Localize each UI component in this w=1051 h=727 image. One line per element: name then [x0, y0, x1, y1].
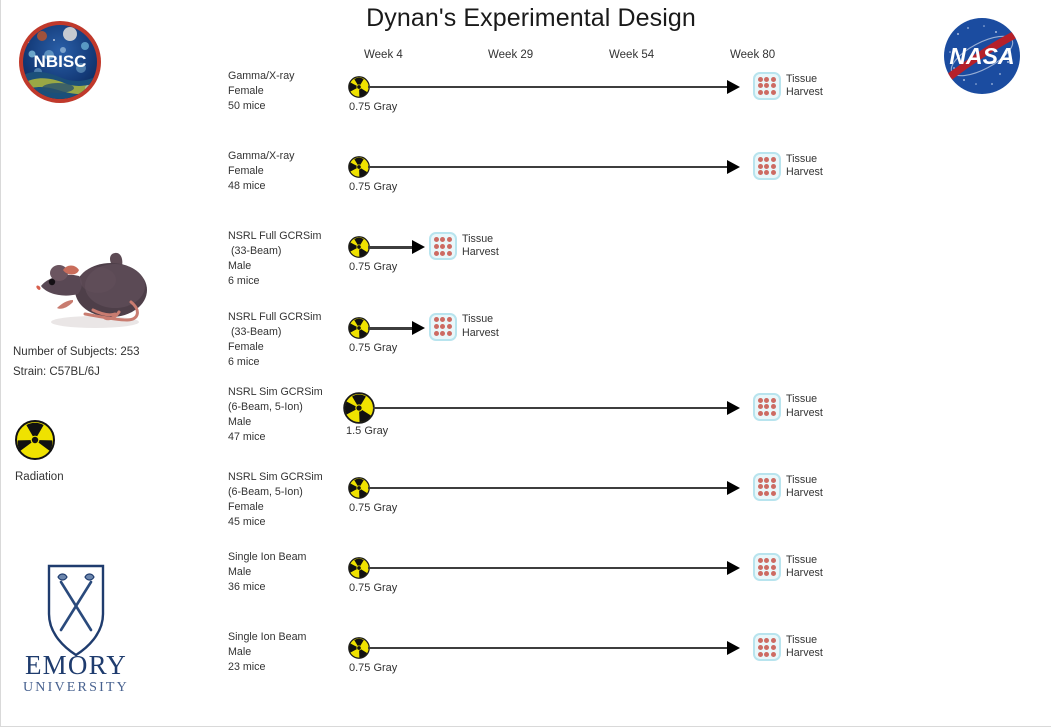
plate-well	[758, 90, 763, 95]
study-timeline-arrow	[368, 567, 728, 569]
study-timeline-arrow	[368, 327, 413, 330]
tissue-harvest-endpoint: TissueHarvest	[753, 553, 823, 581]
tissue-harvest-endpoint: TissueHarvest	[429, 232, 499, 260]
plate-well	[764, 404, 769, 409]
experiment-row: NSRL Full GCRSim (33-Beam)Female6 mice0.…	[1, 309, 1051, 389]
dose-label: 0.75 Gray	[349, 502, 397, 514]
plate-well	[771, 157, 776, 162]
tissue-harvest-label-line1: Tissue	[786, 554, 823, 568]
group-description-line: Single Ion Beam	[228, 550, 346, 565]
plate-well	[771, 652, 776, 657]
dose-label: 0.75 Gray	[349, 261, 397, 273]
irradiation-event-icon	[343, 392, 375, 424]
irradiation-event-icon	[348, 477, 370, 499]
page-title: Dynan's Experimental Design	[301, 4, 761, 33]
plate-well	[771, 638, 776, 643]
group-description-line: Male	[228, 415, 346, 430]
group-description-line: 50 mice	[228, 99, 346, 114]
week-label-week-80: Week 80	[730, 49, 775, 61]
plate-well	[447, 331, 452, 336]
tissue-harvest-endpoint: TissueHarvest	[753, 633, 823, 661]
plate-well	[440, 251, 445, 256]
week-label-week-4: Week 4	[364, 49, 403, 61]
radiation-icon	[348, 156, 370, 178]
study-timeline-arrow	[368, 166, 728, 168]
group-description: Gamma/X-rayFemale50 mice	[228, 69, 346, 114]
plate-well	[764, 411, 769, 416]
tissue-harvest-endpoint: TissueHarvest	[753, 393, 823, 421]
experiment-row: NSRL Sim GCRSim(6-Beam, 5-Ion)Female45 m…	[1, 469, 1051, 549]
plate-well	[440, 237, 445, 242]
radiation-icon	[343, 392, 375, 424]
slide-canvas: Dynan's Experimental Design	[0, 0, 1051, 727]
tissue-harvest-label-line1: Tissue	[462, 313, 499, 327]
group-description: NSRL Full GCRSim (33-Beam)Male6 mice	[228, 229, 346, 289]
plate-well	[758, 164, 763, 169]
week-label-week-54: Week 54	[609, 49, 654, 61]
radiation-icon	[348, 637, 370, 659]
dose-label: 0.75 Gray	[349, 181, 397, 193]
plate-well	[434, 244, 439, 249]
irradiation-event-icon	[348, 76, 370, 98]
plate-well	[447, 317, 452, 322]
well-plate-icon	[753, 553, 781, 581]
plate-well	[771, 83, 776, 88]
experiment-row: Single Ion BeamMale23 mice0.75 GrayTissu…	[1, 629, 1051, 709]
plate-well	[440, 324, 445, 329]
tissue-harvest-label-line2: Harvest	[462, 327, 499, 341]
plate-well	[447, 237, 452, 242]
group-description-line: NSRL Sim GCRSim	[228, 470, 346, 485]
well-plate-icon	[753, 393, 781, 421]
dose-label: 1.5 Gray	[346, 425, 388, 437]
plate-well	[764, 164, 769, 169]
arrowhead-icon	[727, 561, 740, 575]
tissue-harvest-label-line1: Tissue	[786, 153, 823, 167]
plate-well	[447, 244, 452, 249]
plate-well	[764, 652, 769, 657]
experiment-row: Gamma/X-rayFemale48 mice0.75 GrayTissueH…	[1, 148, 1051, 228]
group-description: NSRL Full GCRSim (33-Beam)Female6 mice	[228, 310, 346, 370]
group-description-line: Female	[228, 164, 346, 179]
plate-well	[447, 324, 452, 329]
group-description-line: Gamma/X-ray	[228, 69, 346, 84]
group-description-line: Gamma/X-ray	[228, 149, 346, 164]
tissue-harvest-label-line1: Tissue	[462, 233, 499, 247]
irradiation-event-icon	[348, 637, 370, 659]
tissue-harvest-endpoint: TissueHarvest	[429, 313, 499, 341]
study-timeline-arrow	[368, 647, 728, 649]
tissue-harvest-label-line1: Tissue	[786, 634, 823, 648]
group-description-line: (33-Beam)	[228, 244, 346, 259]
group-description-line: Male	[228, 565, 346, 580]
well-plate-icon	[753, 473, 781, 501]
experiment-row: NSRL Full GCRSim (33-Beam)Male6 mice0.75…	[1, 228, 1051, 308]
plate-well	[771, 404, 776, 409]
plate-well	[771, 491, 776, 496]
plate-well	[434, 237, 439, 242]
group-description: Single Ion BeamMale23 mice	[228, 630, 346, 675]
tissue-harvest-label-line2: Harvest	[786, 166, 823, 180]
plate-well	[764, 398, 769, 403]
study-timeline-arrow	[368, 487, 728, 489]
group-description-line: NSRL Full GCRSim	[228, 310, 346, 325]
group-description-line: Male	[228, 645, 346, 660]
group-description: NSRL Sim GCRSim(6-Beam, 5-Ion)Male47 mic…	[228, 385, 346, 445]
tissue-harvest-label: TissueHarvest	[786, 73, 823, 100]
tissue-harvest-endpoint: TissueHarvest	[753, 152, 823, 180]
irradiation-event-icon	[348, 317, 370, 339]
tissue-harvest-label: TissueHarvest	[786, 153, 823, 180]
arrowhead-icon	[727, 641, 740, 655]
plate-well	[764, 491, 769, 496]
group-description-line: 36 mice	[228, 580, 346, 595]
tissue-harvest-endpoint: TissueHarvest	[753, 473, 823, 501]
plate-well	[758, 484, 763, 489]
tissue-harvest-label-line1: Tissue	[786, 73, 823, 87]
group-description-line: 23 mice	[228, 660, 346, 675]
group-description-line: 6 mice	[228, 355, 346, 370]
radiation-icon	[348, 76, 370, 98]
plate-well	[771, 645, 776, 650]
tissue-harvest-label-line2: Harvest	[786, 86, 823, 100]
plate-well	[447, 251, 452, 256]
plate-well	[758, 170, 763, 175]
well-plate-icon	[753, 72, 781, 100]
arrowhead-icon	[727, 401, 740, 415]
experiment-row: Gamma/X-rayFemale50 mice0.75 GrayTissueH…	[1, 68, 1051, 148]
plate-well	[764, 478, 769, 483]
plate-well	[771, 77, 776, 82]
nasa-logo-text: NASA	[949, 43, 1014, 69]
tissue-harvest-label: TissueHarvest	[462, 233, 499, 260]
tissue-harvest-label-line2: Harvest	[786, 487, 823, 501]
plate-well	[758, 77, 763, 82]
group-description-line: Female	[228, 340, 346, 355]
week-label-week-29: Week 29	[488, 49, 533, 61]
dose-label: 0.75 Gray	[349, 101, 397, 113]
group-description: NSRL Sim GCRSim(6-Beam, 5-Ion)Female45 m…	[228, 470, 346, 530]
plate-well	[434, 251, 439, 256]
plate-well	[764, 77, 769, 82]
plate-well	[771, 398, 776, 403]
plate-well	[758, 491, 763, 496]
tissue-harvest-label: TissueHarvest	[786, 393, 823, 420]
group-description-line: (33-Beam)	[228, 325, 346, 340]
plate-well	[758, 645, 763, 650]
group-description-line: NSRL Full GCRSim	[228, 229, 346, 244]
group-description-line: NSRL Sim GCRSim	[228, 385, 346, 400]
group-description-line: Female	[228, 500, 346, 515]
irradiation-event-icon	[348, 156, 370, 178]
plate-well	[758, 398, 763, 403]
radiation-icon	[348, 236, 370, 258]
plate-well	[771, 170, 776, 175]
arrowhead-icon	[727, 160, 740, 174]
plate-well	[764, 484, 769, 489]
tissue-harvest-label-line2: Harvest	[786, 567, 823, 581]
arrowhead-icon	[412, 240, 425, 254]
plate-well	[758, 571, 763, 576]
plate-well	[758, 478, 763, 483]
group-description-line: Male	[228, 259, 346, 274]
plate-well	[434, 324, 439, 329]
group-description: Gamma/X-rayFemale48 mice	[228, 149, 346, 194]
plate-well	[764, 571, 769, 576]
plate-well	[771, 565, 776, 570]
plate-well	[758, 411, 763, 416]
plate-well	[758, 404, 763, 409]
study-timeline-arrow	[373, 407, 728, 409]
group-description-line: (6-Beam, 5-Ion)	[228, 400, 346, 415]
study-timeline-arrow	[368, 246, 413, 249]
group-description-line: 6 mice	[228, 274, 346, 289]
plate-well	[771, 558, 776, 563]
arrowhead-icon	[727, 80, 740, 94]
tissue-harvest-label: TissueHarvest	[786, 634, 823, 661]
plate-well	[764, 565, 769, 570]
tissue-harvest-label: TissueHarvest	[786, 474, 823, 501]
radiation-icon	[348, 557, 370, 579]
radiation-icon	[348, 477, 370, 499]
group-description-line: (6-Beam, 5-Ion)	[228, 485, 346, 500]
radiation-icon	[348, 317, 370, 339]
plate-well	[758, 652, 763, 657]
plate-well	[440, 244, 445, 249]
plate-well	[764, 90, 769, 95]
dose-label: 0.75 Gray	[349, 582, 397, 594]
plate-well	[771, 164, 776, 169]
plate-well	[771, 571, 776, 576]
well-plate-icon	[429, 313, 457, 341]
tissue-harvest-label-line1: Tissue	[786, 474, 823, 488]
tissue-harvest-endpoint: TissueHarvest	[753, 72, 823, 100]
plate-well	[771, 478, 776, 483]
irradiation-event-icon	[348, 557, 370, 579]
plate-well	[764, 83, 769, 88]
well-plate-icon	[753, 633, 781, 661]
tissue-harvest-label: TissueHarvest	[786, 554, 823, 581]
group-description-line: Single Ion Beam	[228, 630, 346, 645]
plate-well	[764, 558, 769, 563]
group-description-line: 47 mice	[228, 430, 346, 445]
tissue-harvest-label-line1: Tissue	[786, 393, 823, 407]
plate-well	[440, 331, 445, 336]
plate-well	[758, 157, 763, 162]
plate-well	[758, 638, 763, 643]
irradiation-event-icon	[348, 236, 370, 258]
plate-well	[764, 157, 769, 162]
tissue-harvest-label-line2: Harvest	[786, 407, 823, 421]
arrowhead-icon	[412, 321, 425, 335]
plate-well	[758, 565, 763, 570]
plate-well	[771, 411, 776, 416]
arrowhead-icon	[727, 481, 740, 495]
group-description-line: 45 mice	[228, 515, 346, 530]
plate-well	[764, 645, 769, 650]
experiment-row: Single Ion BeamMale36 mice0.75 GrayTissu…	[1, 549, 1051, 629]
group-description-line: Female	[228, 84, 346, 99]
plate-well	[440, 317, 445, 322]
experiment-row: NSRL Sim GCRSim(6-Beam, 5-Ion)Male47 mic…	[1, 389, 1051, 469]
plate-well	[434, 331, 439, 336]
plate-well	[758, 83, 763, 88]
well-plate-icon	[429, 232, 457, 260]
plate-well	[764, 638, 769, 643]
plate-well	[771, 484, 776, 489]
tissue-harvest-label-line2: Harvest	[786, 647, 823, 661]
tissue-harvest-label: TissueHarvest	[462, 313, 499, 340]
dose-label: 0.75 Gray	[349, 342, 397, 354]
plate-well	[764, 170, 769, 175]
well-plate-icon	[753, 152, 781, 180]
group-description: Single Ion BeamMale36 mice	[228, 550, 346, 595]
group-description-line: 48 mice	[228, 179, 346, 194]
study-timeline-arrow	[368, 86, 728, 88]
plate-well	[434, 317, 439, 322]
plate-well	[758, 558, 763, 563]
tissue-harvest-label-line2: Harvest	[462, 246, 499, 260]
plate-well	[771, 90, 776, 95]
dose-label: 0.75 Gray	[349, 662, 397, 674]
